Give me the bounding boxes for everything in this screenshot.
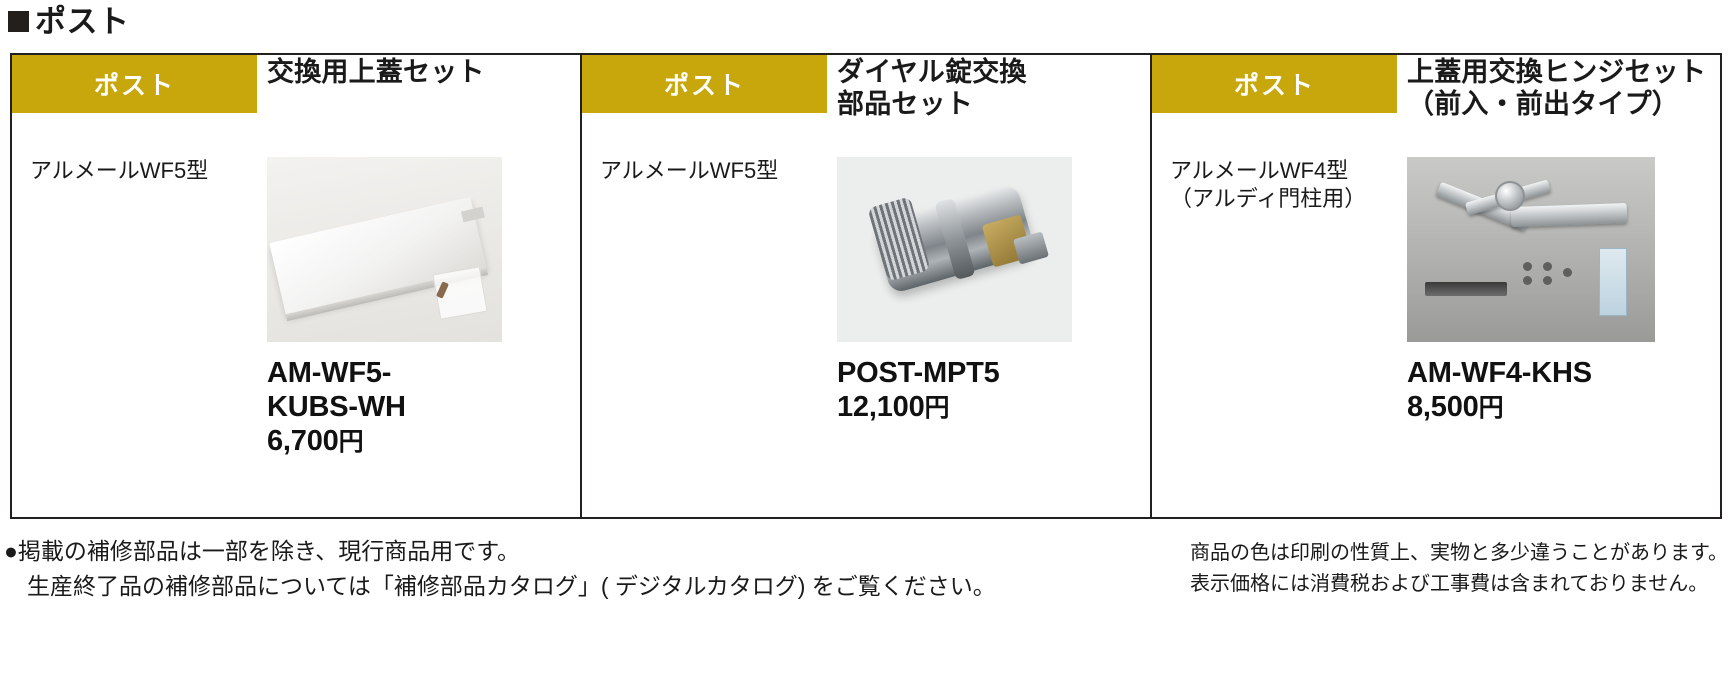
- product-panel: ポスト 上蓋用交換ヒンジセット （前入・前出タイプ） アルメールWF4型 （アル…: [1150, 55, 1720, 517]
- model-name: アルメールWF5型: [582, 113, 827, 517]
- price-unit: 円: [339, 428, 364, 456]
- price-number: 8,500: [1407, 391, 1479, 423]
- part-code: POST-MPT5: [837, 356, 1150, 390]
- hinge-bar-shape: [1511, 203, 1628, 227]
- price-unit: 円: [925, 394, 950, 422]
- price-unit: 円: [1479, 394, 1504, 422]
- panel-header: ポスト 交換用上蓋セット: [12, 55, 580, 113]
- panel-body: アルメールWF5型 POST-MPT5 12,100円: [582, 113, 1150, 517]
- price-number: 6,700: [267, 425, 339, 457]
- part-title: 交換用上蓋セット: [257, 55, 580, 113]
- lock-knurl-shape: [867, 196, 930, 281]
- product-panel: ポスト 交換用上蓋セット アルメールWF5型 AM-WF5- KUBS-WH 6…: [12, 55, 580, 517]
- product-column: AM-WF4-KHS 8,500円: [1397, 113, 1720, 517]
- category-badge: ポスト: [582, 55, 827, 113]
- screw-cluster-shape: [1523, 262, 1577, 298]
- product-column: POST-MPT5 12,100円: [827, 113, 1150, 517]
- dial-lock-parts-photo: [837, 157, 1072, 342]
- hinge-plate-shape: [1425, 282, 1507, 296]
- price: 8,500円: [1407, 390, 1720, 425]
- hinge-pivot-shape: [1495, 181, 1525, 211]
- product-panel: ポスト ダイヤル錠交換 部品セット アルメールWF5型 POST-MPT5 12…: [580, 55, 1150, 517]
- hinge-set-photo: [1407, 157, 1655, 342]
- panel-body: アルメールWF4型 （アルディ門柱用） AM-WF4-KHS 8: [1152, 113, 1720, 517]
- page-title: ポスト: [35, 6, 130, 37]
- product-column: AM-WF5- KUBS-WH 6,700円: [257, 113, 580, 517]
- panel-body: アルメールWF5型 AM-WF5- KUBS-WH 6,700円: [12, 113, 580, 517]
- price-number: 12,100: [837, 391, 925, 423]
- part-code: AM-WF4-KHS: [1407, 356, 1720, 390]
- price: 6,700円: [267, 424, 580, 459]
- instruction-label-shape: [1599, 248, 1627, 316]
- model-name: アルメールWF4型 （アルディ門柱用）: [1152, 113, 1397, 517]
- catalog-table: ポスト 交換用上蓋セット アルメールWF5型 AM-WF5- KUBS-WH 6…: [10, 53, 1722, 519]
- panel-header: ポスト ダイヤル錠交換 部品セット: [582, 55, 1150, 113]
- part-title: ダイヤル錠交換 部品セット: [827, 55, 1150, 113]
- price: 12,100円: [837, 390, 1150, 425]
- footnote-right: 商品の色は印刷の性質上、実物と多少違うことがあります。 表示価格には消費税および…: [1190, 538, 1728, 600]
- model-name: アルメールWF5型: [12, 113, 257, 517]
- black-square-icon: [8, 11, 29, 32]
- footnote-left: ●掲載の補修部品は一部を除き、現行商品用です。 生産終了品の補修部品については「…: [4, 534, 996, 603]
- category-badge: ポスト: [1152, 55, 1397, 113]
- post-lid-set-photo: [267, 157, 502, 342]
- part-title: 上蓋用交換ヒンジセット （前入・前出タイプ）: [1397, 55, 1720, 113]
- category-badge: ポスト: [12, 55, 257, 113]
- panel-header: ポスト 上蓋用交換ヒンジセット （前入・前出タイプ）: [1152, 55, 1720, 113]
- part-code: AM-WF5- KUBS-WH: [267, 356, 580, 424]
- section-heading: ポスト: [8, 6, 130, 37]
